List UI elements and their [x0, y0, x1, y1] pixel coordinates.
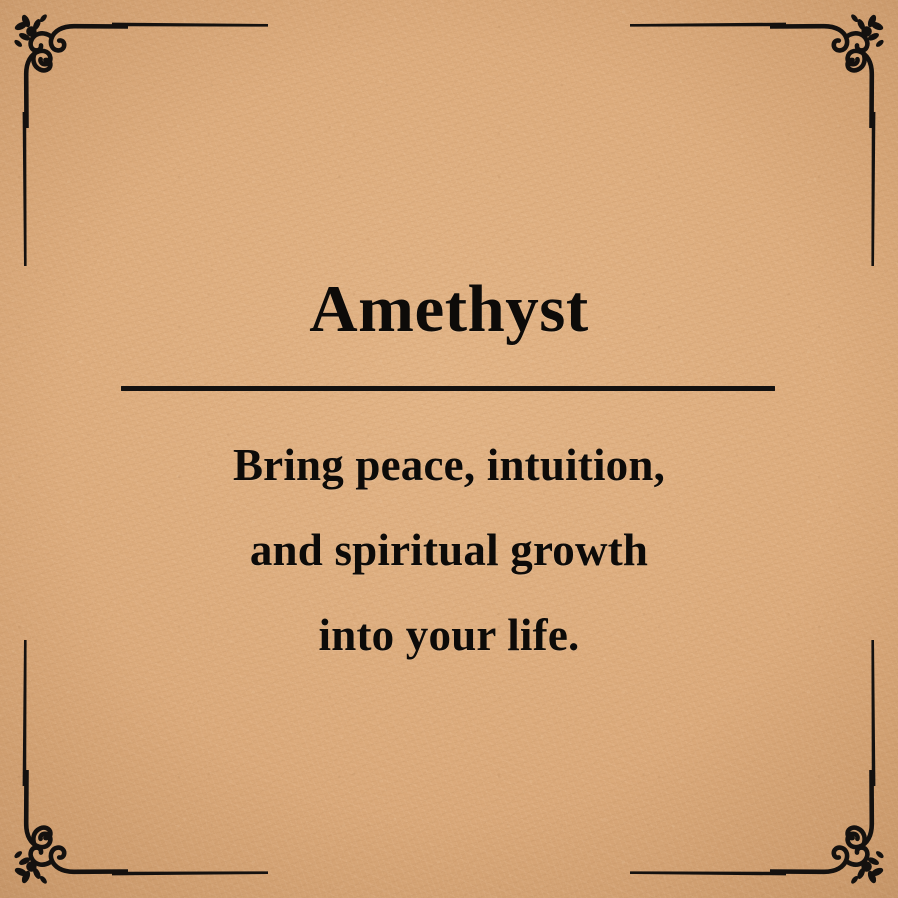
affirmation-line-3: into your life. [60, 613, 838, 658]
page-title: Amethyst [0, 276, 898, 343]
card-content: Amethyst Bring peace, intuition, and spi… [0, 0, 898, 898]
affirmation-line-2: and spiritual growth [60, 528, 838, 573]
affirmation-text: Bring peace, intuition, and spiritual gr… [60, 443, 838, 658]
affirmation-line-1: Bring peace, intuition, [60, 443, 838, 488]
title-divider-rule [121, 386, 775, 391]
amethyst-affirmation-card: Amethyst Bring peace, intuition, and spi… [0, 0, 898, 898]
